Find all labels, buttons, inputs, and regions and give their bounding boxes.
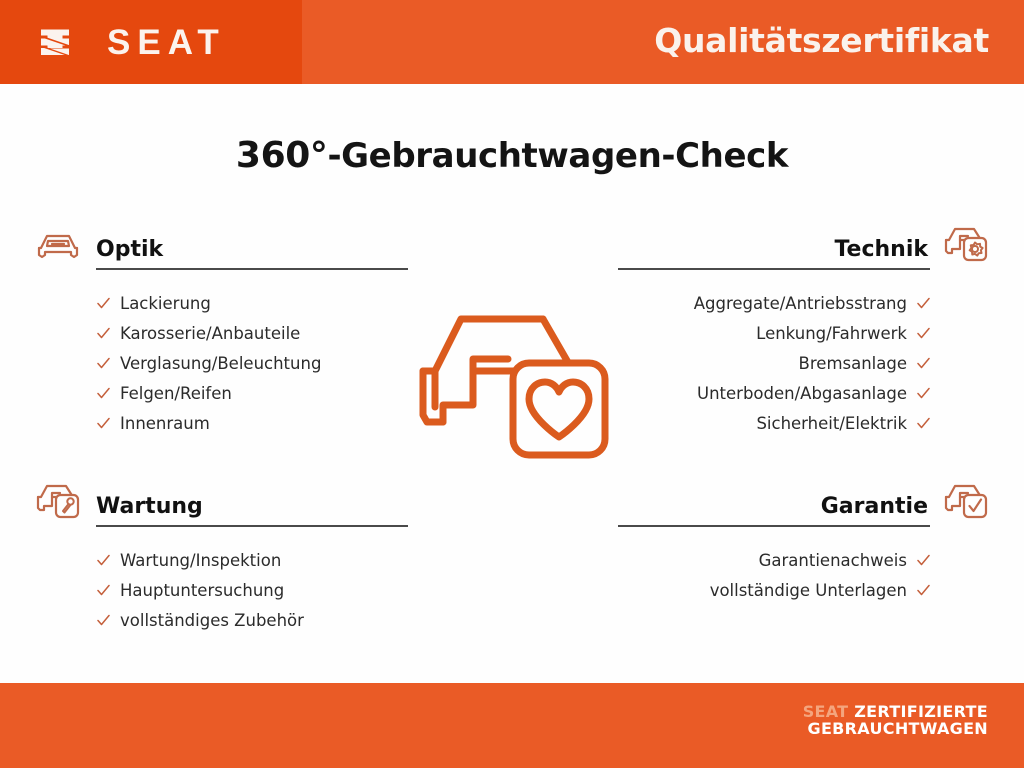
- page-header: SEAT Qualitätszertifikat: [0, 0, 1024, 84]
- list-item-label: Lenkung/Fahrwerk: [756, 324, 907, 343]
- seat-wordmark: SEAT: [107, 25, 226, 60]
- page-title-degrees: 360°: [236, 135, 328, 176]
- car-gear-icon: [944, 224, 988, 264]
- check-icon: [97, 387, 110, 400]
- check-icon: [97, 614, 110, 627]
- section-optik-header: Optik: [36, 222, 408, 264]
- list-item-label: Garantienachweis: [759, 551, 907, 570]
- seat-s-logo-icon: [31, 19, 79, 66]
- check-icon: [97, 417, 110, 430]
- check-icon: [97, 297, 110, 310]
- list-item: Garantienachweis: [616, 545, 988, 575]
- main-content: 360°-Gebrauchtwagen-Check Optik: [0, 84, 1024, 683]
- list-item: Verglasung/Beleuchtung: [36, 348, 408, 378]
- section-technik: Technik Aggregate/Antriebsstrang: [616, 222, 988, 438]
- list-item-label: Hauptuntersuchung: [120, 581, 284, 600]
- seat-logo: SEAT: [31, 19, 226, 66]
- check-icon: [917, 417, 930, 430]
- footer-claim-zertifizierte: ZERTIFIZIERTE: [854, 702, 988, 721]
- list-item: Innenraum: [36, 408, 408, 438]
- list-item: Karosserie/Anbauteile: [36, 318, 408, 348]
- list-item: Sicherheit/Elektrik: [616, 408, 988, 438]
- section-garantie-header: Garantie: [616, 479, 988, 521]
- list-item-label: Karosserie/Anbauteile: [120, 324, 300, 343]
- list-item-label: vollständiges Zubehör: [120, 611, 304, 630]
- check-icon: [97, 554, 110, 567]
- list-item-label: Felgen/Reifen: [120, 384, 232, 403]
- list-item: Hauptuntersuchung: [36, 575, 408, 605]
- section-garantie-title: Garantie: [821, 496, 928, 521]
- page-title: 360°-Gebrauchtwagen-Check: [0, 135, 1024, 176]
- footer-claim-line1: SEAT ZERTIFIZIERTE: [803, 703, 988, 720]
- car-with-heart-icon: [413, 297, 618, 477]
- section-optik-title: Optik: [96, 239, 163, 264]
- list-item-label: Lackierung: [120, 294, 211, 313]
- check-icon: [917, 584, 930, 597]
- car-front-icon: [36, 224, 80, 264]
- car-wrench-icon: [36, 481, 80, 521]
- car-check-icon: [944, 481, 988, 521]
- check-icon: [917, 327, 930, 340]
- footer-claim-line2: GEBRAUCHTWAGEN: [803, 720, 988, 737]
- list-item-label: Verglasung/Beleuchtung: [120, 354, 321, 373]
- list-item: Lenkung/Fahrwerk: [616, 318, 988, 348]
- list-item-label: Aggregate/Antriebsstrang: [694, 294, 907, 313]
- list-item-label: Unterboden/Abgasanlage: [697, 384, 907, 403]
- check-icon: [917, 297, 930, 310]
- check-icon: [917, 387, 930, 400]
- section-garantie: Garantie Garantienachweis vollständige U…: [616, 479, 988, 605]
- list-item: Bremsanlage: [616, 348, 988, 378]
- section-optik-items: Lackierung Karosserie/Anbauteile Verglas…: [36, 288, 408, 438]
- list-item: Felgen/Reifen: [36, 378, 408, 408]
- section-technik-title: Technik: [834, 239, 928, 264]
- section-optik-divider: [96, 268, 408, 270]
- section-wartung-title: Wartung: [96, 496, 203, 521]
- section-wartung-divider: [96, 525, 408, 527]
- list-item-label: Bremsanlage: [799, 354, 907, 373]
- header-title: Qualitätszertifikat: [654, 21, 989, 60]
- section-technik-divider: [618, 268, 930, 270]
- check-icon: [917, 357, 930, 370]
- list-item: Wartung/Inspektion: [36, 545, 408, 575]
- section-technik-header: Technik: [616, 222, 988, 264]
- list-item: vollständige Unterlagen: [616, 575, 988, 605]
- section-wartung-items: Wartung/Inspektion Hauptuntersuchung vol…: [36, 545, 408, 635]
- list-item-label: Sicherheit/Elektrik: [756, 414, 907, 433]
- list-item: Unterboden/Abgasanlage: [616, 378, 988, 408]
- section-wartung: Wartung Wartung/Inspektion Hauptuntersuc…: [36, 479, 408, 635]
- page-footer: SEAT ZERTIFIZIERTE GEBRAUCHTWAGEN: [0, 683, 1024, 768]
- footer-claim: SEAT ZERTIFIZIERTE GEBRAUCHTWAGEN: [803, 703, 988, 738]
- page-title-rest: -Gebrauchtwagen-Check: [327, 136, 788, 176]
- section-wartung-header: Wartung: [36, 479, 408, 521]
- list-item: Aggregate/Antriebsstrang: [616, 288, 988, 318]
- footer-brand: SEAT: [803, 702, 849, 721]
- section-garantie-divider: [618, 525, 930, 527]
- list-item-label: Innenraum: [120, 414, 210, 433]
- check-icon: [917, 554, 930, 567]
- check-icon: [97, 327, 110, 340]
- section-technik-items: Aggregate/Antriebsstrang Lenkung/Fahrwer…: [616, 288, 988, 438]
- list-item-label: vollständige Unterlagen: [710, 581, 907, 600]
- section-optik: Optik Lackierung Karosserie/Anbauteile V…: [36, 222, 408, 438]
- check-icon: [97, 584, 110, 597]
- check-icon: [97, 357, 110, 370]
- list-item: vollständiges Zubehör: [36, 605, 408, 635]
- list-item: Lackierung: [36, 288, 408, 318]
- list-item-label: Wartung/Inspektion: [120, 551, 281, 570]
- section-garantie-items: Garantienachweis vollständige Unterlagen: [616, 545, 988, 605]
